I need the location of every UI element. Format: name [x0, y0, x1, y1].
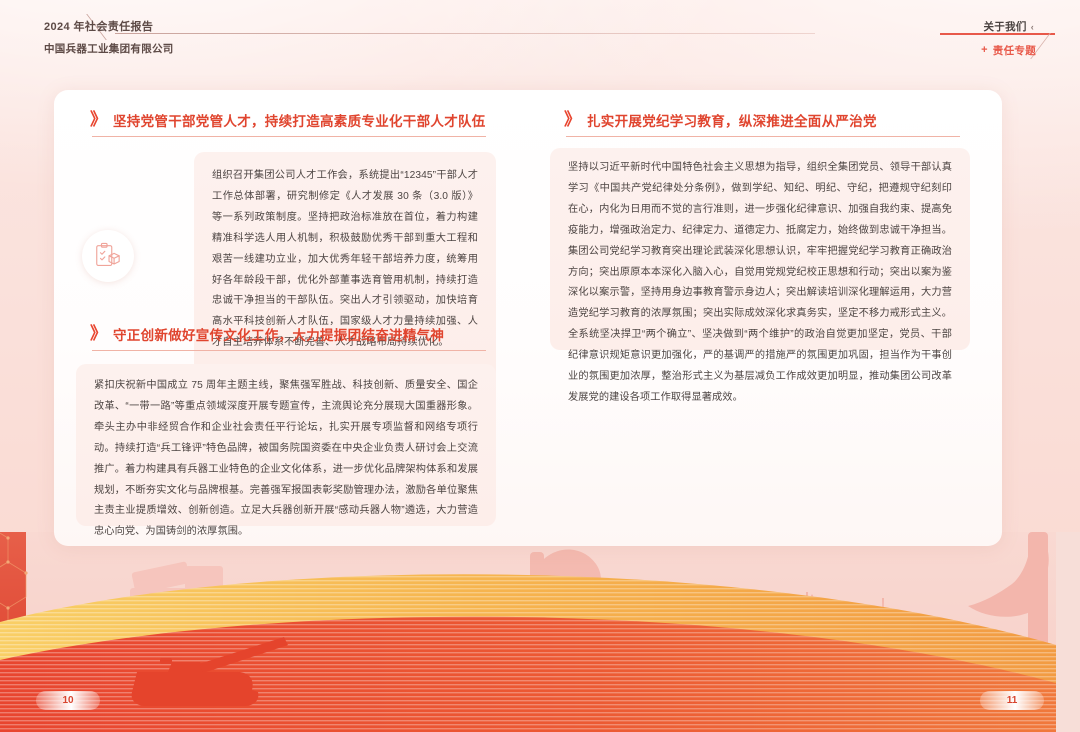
double-chevron-icon: 》	[564, 112, 578, 129]
report-title: 2024 年社会责任报告	[44, 18, 153, 34]
section-rule-3	[566, 136, 960, 137]
nav-responsibility-topic-label: 责任专题	[993, 43, 1036, 58]
body-text-publicity-culture: 紧扣庆祝新中国成立 75 周年主题主线，聚焦强军胜战、科技创新、质量安全、国企改…	[94, 376, 478, 543]
company-name: 中国兵器工业集团有限公司	[44, 41, 174, 56]
chevron-left-icon: ‹	[1031, 22, 1034, 32]
plus-icon: +	[981, 45, 988, 56]
nav-responsibility-topic[interactable]: + 责任专题	[981, 43, 1036, 58]
page-header: 2024 年社会责任报告 中国兵器工业集团有限公司 关于我们 ‹ + 责任专题	[0, 0, 1080, 70]
page-number-left: 10	[36, 691, 100, 710]
report-page: 10 11 2024 年社会责任报告 中国兵器工业集团有限公司 关于我们 ‹ +…	[0, 0, 1080, 732]
page-number-right: 11	[980, 691, 1044, 710]
section-heading-party-discipline: 》 扎实开展党纪学习教育，纵深推进全面从严治党	[564, 110, 877, 130]
right-column: 》 扎实开展党纪学习教育，纵深推进全面从严治党 坚持以习近平新时代中国特色社会主…	[528, 90, 1002, 546]
section-heading-publicity-culture: 》 守正创新做好宣传文化工作，大力提振团结奋进精气神	[90, 324, 444, 344]
decor-graphic	[0, 532, 1080, 732]
left-column: 》 坚持党管干部党管人才，持续打造高素质专业化干部人才队伍 组织召开集团公司人才…	[54, 90, 528, 546]
nav-about-us[interactable]: 关于我们 ‹	[983, 19, 1034, 34]
section-rule-1	[92, 136, 486, 137]
section-heading-cadre-talent-label: 坚持党管干部党管人才，持续打造高素质专业化干部人才队伍	[113, 110, 486, 130]
section-heading-party-discipline-label: 扎实开展党纪学习教育，纵深推进全面从严治党	[587, 110, 877, 130]
section-heading-cadre-talent: 》 坚持党管干部党管人才，持续打造高素质专业化干部人才队伍	[90, 110, 486, 130]
clipboard-box-icon-badge	[82, 230, 134, 282]
body-text-party-discipline: 坚持以习近平新时代中国特色社会主义思想为指导，组织全集团党员、领导干部认真学习《…	[568, 158, 952, 409]
text-panel-party-discipline: 坚持以习近平新时代中国特色社会主义思想为指导，组织全集团党员、领导干部认真学习《…	[550, 148, 970, 350]
text-panel-publicity-culture: 紧扣庆祝新中国成立 75 周年主题主线，聚焦强军胜战、科技创新、质量安全、国企改…	[76, 364, 496, 526]
header-rule-left	[115, 33, 815, 34]
section-rule-2	[92, 350, 486, 351]
double-chevron-icon: 》	[90, 112, 104, 129]
nav-about-us-label: 关于我们	[983, 19, 1026, 34]
section-heading-publicity-culture-label: 守正创新做好宣传文化工作，大力提振团结奋进精气神	[113, 324, 444, 344]
clipboard-box-icon	[93, 241, 123, 271]
content-card: 》 坚持党管干部党管人才，持续打造高素质专业化干部人才队伍 组织召开集团公司人才…	[54, 90, 1002, 546]
page-decoration: 10 11	[0, 532, 1080, 732]
header-diagonal-right	[1030, 33, 1077, 59]
double-chevron-icon: 》	[90, 326, 104, 343]
